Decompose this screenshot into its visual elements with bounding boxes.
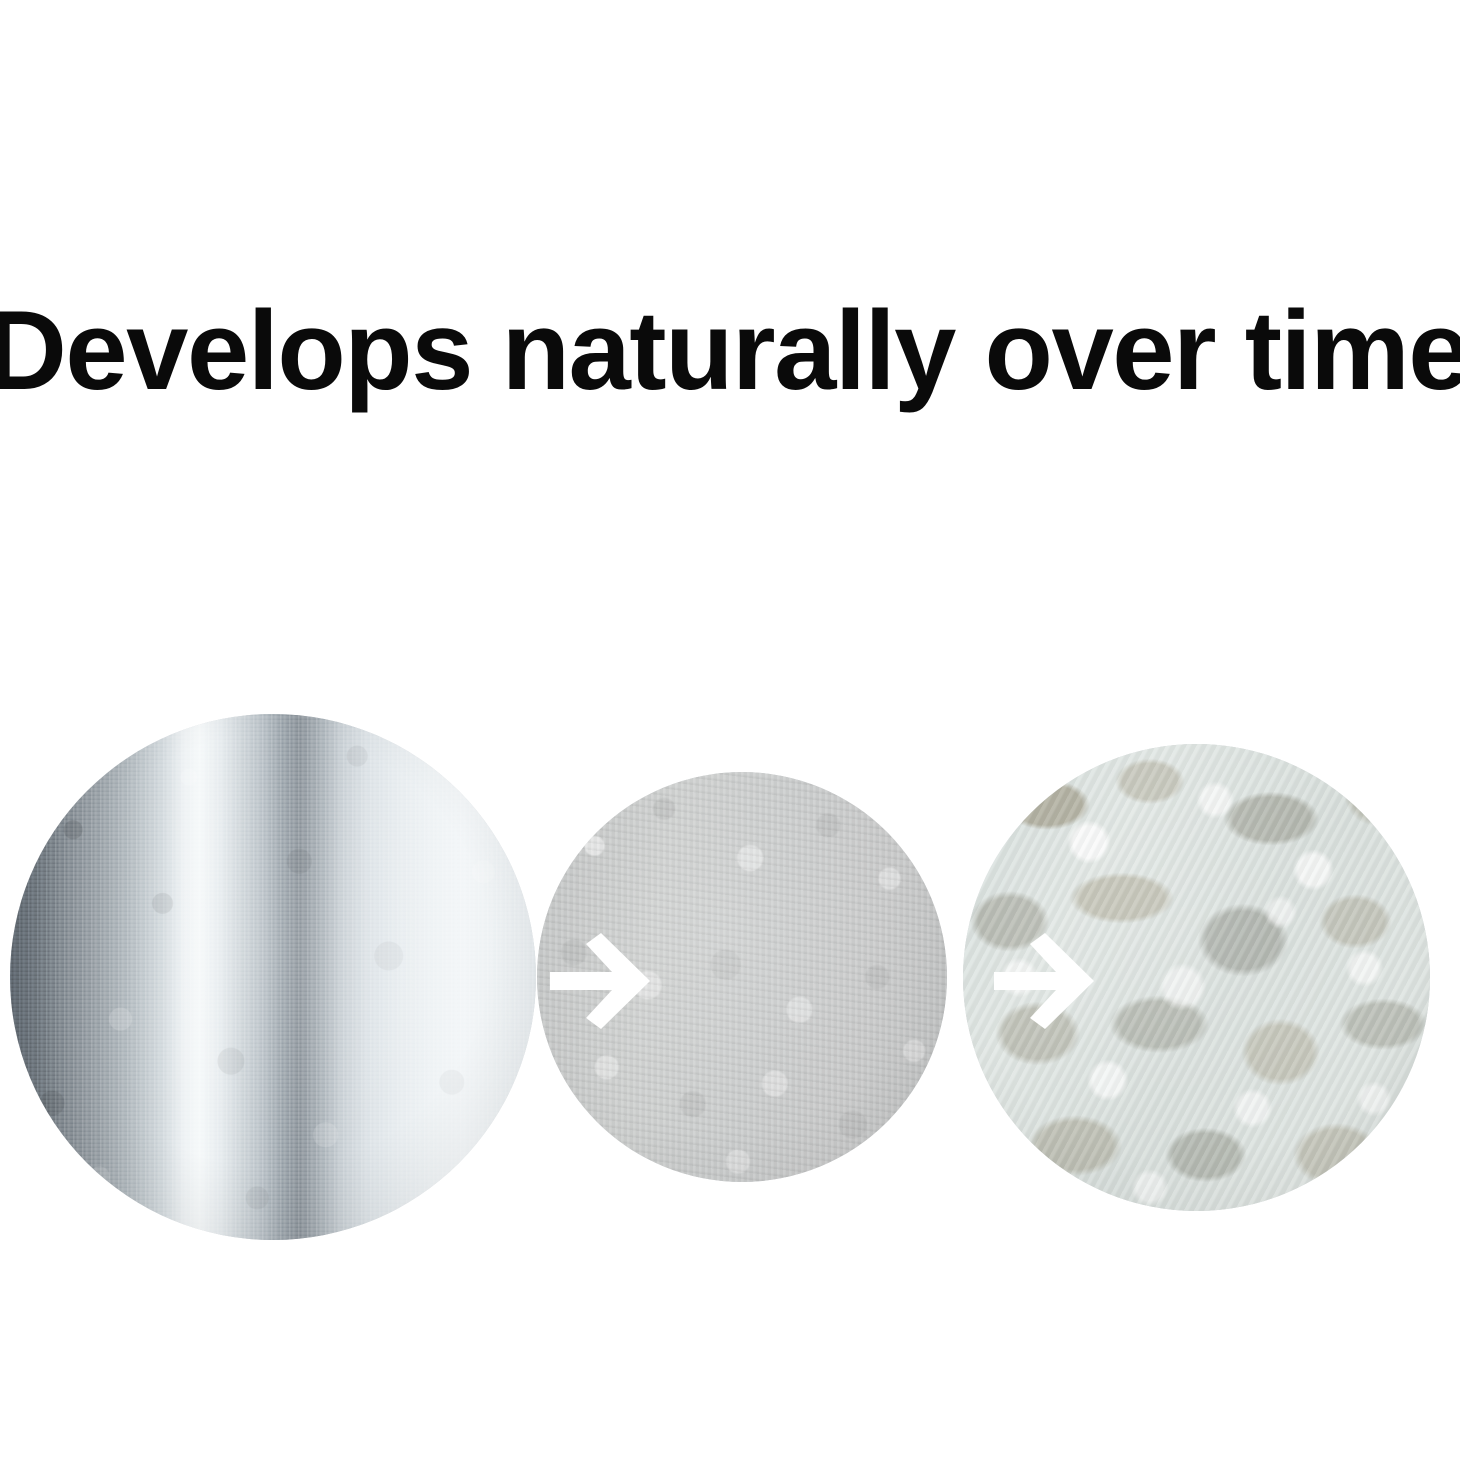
patina-stages-row xyxy=(0,0,1460,1460)
stage-circle-3-full-patina-mottled xyxy=(963,744,1430,1211)
stage-circle-1-new-galvanized-steel xyxy=(10,714,536,1240)
stage-3-vignette xyxy=(963,744,1430,1211)
stage-1-vignette xyxy=(10,714,536,1240)
slide-canvas: Develops naturally over time xyxy=(0,0,1460,1460)
stage-2-vignette xyxy=(537,772,947,1182)
stage-circle-2-weathered-matte-gray xyxy=(537,772,947,1182)
